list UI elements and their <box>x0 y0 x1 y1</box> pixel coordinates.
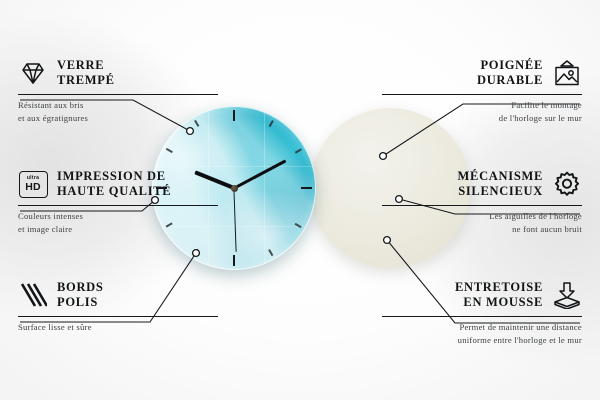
divider <box>382 94 582 95</box>
clock-tick <box>233 255 235 266</box>
divider <box>18 94 218 95</box>
divider <box>18 316 218 317</box>
divider <box>382 205 582 206</box>
feature-title: ENTRETOISE EN MOUSSE <box>455 280 543 310</box>
feature-mecanisme-silencieux: MÉCANISME SILENCIEUX Les aiguilles de l'… <box>382 167 582 235</box>
feature-description: Les aiguilles de l'horloge ne font aucun… <box>382 210 582 234</box>
feature-impression-haute-qualite: ultra HD IMPRESSION DE HAUTE QUALITÉ Cou… <box>18 167 218 235</box>
feature-title: POIGNÉE DURABLE <box>477 58 543 88</box>
feature-entretoise-en-mousse: ENTRETOISE EN MOUSSE Permet de maintenir… <box>382 278 582 346</box>
ultra-hd-badge-icon: ultra HD <box>18 169 48 199</box>
feature-title: BORDS POLIS <box>57 280 104 310</box>
feature-description: Résistant aux bris et aux égratignures <box>18 99 218 123</box>
feature-description: Surface lisse et sûre <box>18 321 218 333</box>
feature-title: MÉCANISME SILENCIEUX <box>458 169 543 199</box>
badge-top-text: ultra <box>27 176 39 181</box>
feature-verre-trempe: VERRE TREMPÉ Résistant aux bris et aux é… <box>18 56 218 124</box>
feature-description: Permet de maintenir une distance uniform… <box>382 321 582 345</box>
product-infographic: VERRE TREMPÉ Résistant aux bris et aux é… <box>0 0 600 400</box>
picture-hanger-icon <box>552 58 582 88</box>
feature-bords-polis: BORDS POLIS Surface lisse et sûre <box>18 278 218 334</box>
clock-tick <box>233 110 235 121</box>
feature-title: VERRE TREMPÉ <box>57 58 115 88</box>
feature-poignee-durable: POIGNÉE DURABLE Facilite le montage de l… <box>382 56 582 124</box>
polished-edges-icon <box>18 280 48 310</box>
hand-cap <box>231 185 238 192</box>
divider <box>18 205 218 206</box>
feature-description: Couleurs intenses et image claire <box>18 210 218 234</box>
foam-spacer-icon <box>552 280 582 310</box>
clock-tick <box>301 187 312 189</box>
feature-title: IMPRESSION DE HAUTE QUALITÉ <box>57 169 171 199</box>
gear-icon <box>552 169 582 199</box>
badge-bottom-text: HD <box>25 182 41 193</box>
diamond-icon <box>18 58 48 88</box>
divider <box>382 316 582 317</box>
feature-description: Facilite le montage de l'horloge sur le … <box>382 99 582 123</box>
